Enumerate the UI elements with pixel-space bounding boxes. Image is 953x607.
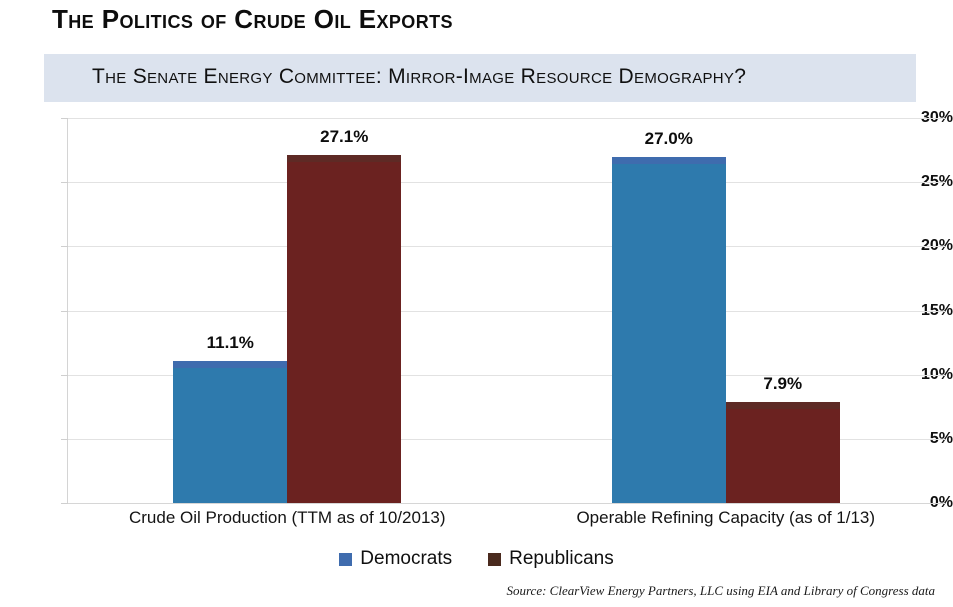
legend-item-democrats[interactable]: Democrats <box>339 548 452 570</box>
bar-chart: 0%5%10%15%20%25%30% 11.1%27.1%27.0%7.9% … <box>0 110 953 510</box>
gridline <box>68 503 945 504</box>
y-axis-tick-mark <box>61 118 68 119</box>
category-label: Crude Oil Production (TTM as of 10/2013) <box>68 508 507 528</box>
y-axis-tick-mark <box>61 182 68 183</box>
bar-republicans[interactable] <box>726 402 840 503</box>
gridline <box>68 118 945 119</box>
y-axis-tick-mark <box>61 311 68 312</box>
bar-top-highlight <box>287 155 401 162</box>
plot-area: 11.1%27.1%27.0%7.9% <box>68 118 945 503</box>
bar-democrats[interactable] <box>173 361 287 503</box>
y-axis-tick-mark <box>61 375 68 376</box>
y-axis-tick-mark <box>61 503 68 504</box>
democrat-swatch-icon <box>339 553 352 566</box>
bar-republicans[interactable] <box>287 155 401 503</box>
subtitle-banner: The Senate Energy Committee: Mirror-Imag… <box>44 54 916 102</box>
gridline <box>68 246 945 247</box>
page-title: The Politics of Crude Oil Exports <box>52 4 453 35</box>
category-label: Operable Refining Capacity (as of 1/13) <box>507 508 946 528</box>
y-axis-tick-mark <box>61 246 68 247</box>
bar-value-label: 11.1% <box>173 333 287 353</box>
bar-value-label: 27.1% <box>287 127 401 147</box>
source-note: Source: ClearView Energy Partners, LLC u… <box>506 583 935 599</box>
chart-legend: Democrats Republicans <box>0 548 953 570</box>
bar-top-highlight <box>726 402 840 409</box>
bar-value-label: 7.9% <box>726 374 840 394</box>
legend-label-republicans: Republicans <box>509 548 614 570</box>
y-axis-tick-mark <box>61 439 68 440</box>
legend-item-republicans[interactable]: Republicans <box>488 548 614 570</box>
bar-democrats[interactable] <box>612 157 726 504</box>
republican-swatch-icon <box>488 553 501 566</box>
subtitle-text: The Senate Energy Committee: Mirror-Imag… <box>92 65 746 89</box>
legend-label-democrats: Democrats <box>360 548 452 570</box>
bar-value-label: 27.0% <box>612 129 726 149</box>
bar-top-highlight <box>612 157 726 164</box>
gridline <box>68 311 945 312</box>
gridline <box>68 182 945 183</box>
bar-top-highlight <box>173 361 287 368</box>
